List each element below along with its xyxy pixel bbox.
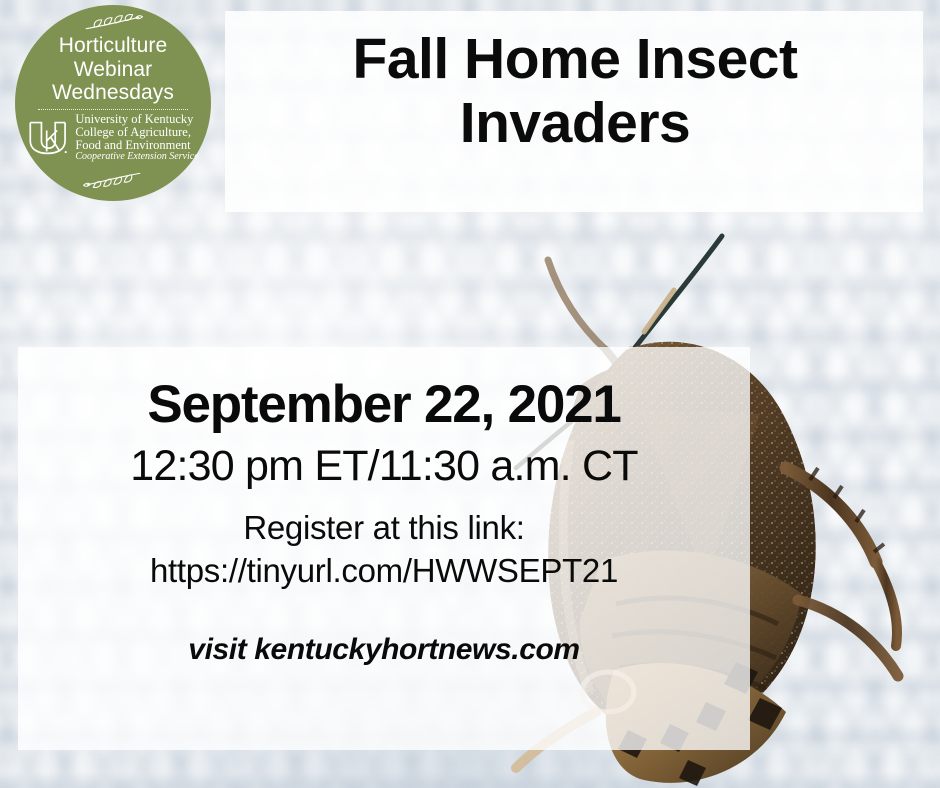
poster-canvas: Fall Home Insect Invaders September 22, … [0, 0, 940, 788]
badge-line-3: Wednesdays [52, 81, 174, 105]
uk-org-line-2: College of Agriculture, [75, 126, 198, 139]
laurel-sprig-bottom-icon [82, 168, 144, 188]
title-line-1: Fall Home Insect [245, 28, 905, 92]
uk-org-line-1: University of Kentucky [75, 113, 198, 126]
event-date: September 22, 2021 [18, 375, 750, 434]
uk-monogram-icon [27, 117, 69, 157]
page-title: Fall Home Insect Invaders [245, 28, 905, 156]
uk-org-text: University of Kentucky College of Agricu… [75, 113, 198, 162]
badge-line-1: Horticulture [52, 34, 174, 58]
visit-website-note[interactable]: visit kentuckyhortnews.com [18, 633, 750, 667]
registration-link[interactable]: https://tinyurl.com/HWWSEPT21 [18, 551, 750, 591]
uk-org-line-4: Cooperative Extension Service [75, 152, 198, 162]
badge-divider [38, 109, 188, 110]
event-details: September 22, 2021 12:30 pm ET/11:30 a.m… [18, 347, 750, 750]
uk-org-line-3: Food and Environment [75, 139, 198, 152]
badge-line-2: Webinar [52, 58, 174, 82]
register-label: Register at this link: [18, 508, 750, 548]
title-line-2: Invaders [245, 92, 905, 156]
uk-logo-lockup: University of Kentucky College of Agricu… [27, 113, 198, 162]
webinar-series-badge: Horticulture Webinar Wednesdays [15, 5, 211, 201]
laurel-sprig-top-icon [82, 13, 144, 33]
event-time: 12:30 pm ET/11:30 a.m. CT [18, 442, 750, 491]
badge-title-lines: Horticulture Webinar Wednesdays [52, 34, 174, 105]
